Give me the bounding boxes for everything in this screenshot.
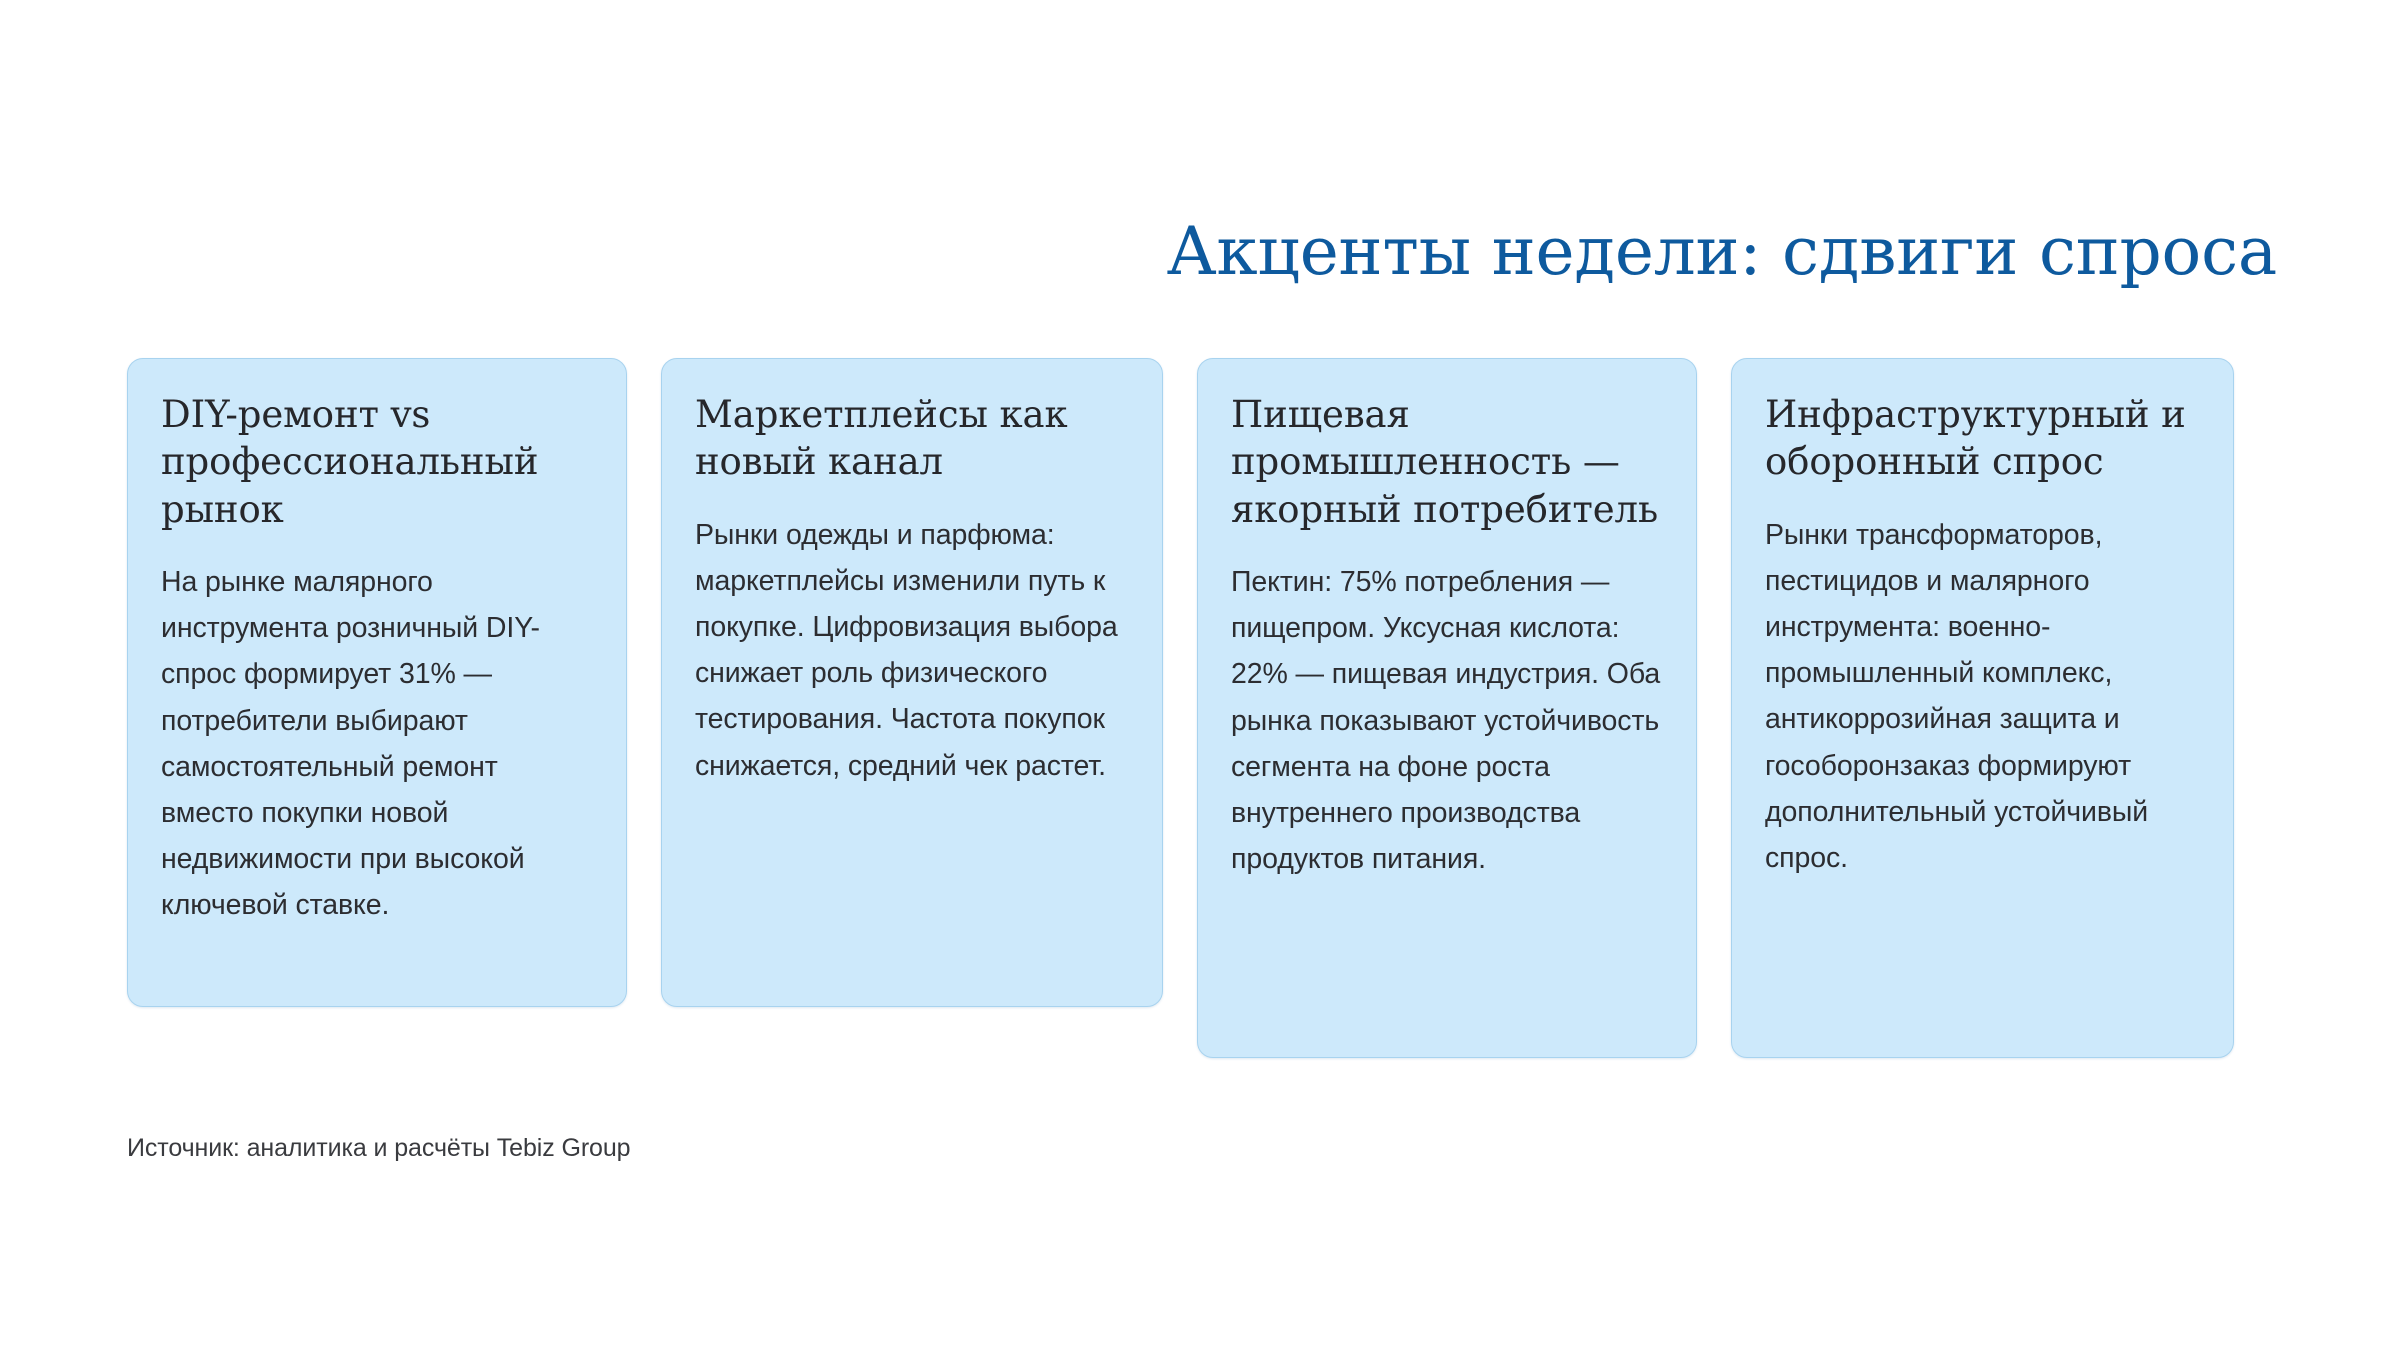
insight-card-heading: Маркетплейсы как новый канал: [695, 391, 1129, 486]
insight-card-row: DIY-ремонт vs профессиональный рынок На …: [127, 358, 2278, 1058]
source-note: Источник: аналитика и расчёты Tebiz Grou…: [127, 1132, 630, 1165]
insight-card-body: Рынки трансформаторов, пестицидов и маля…: [1765, 512, 2200, 881]
insight-card-body: На рынке малярного инструмента розничный…: [161, 559, 593, 928]
insight-card: Пищевая промышленность — якорный потреби…: [1197, 358, 1697, 1058]
insight-card: Инфраструктурный и оборонный спрос Рынки…: [1731, 358, 2234, 1058]
insight-card-heading: Инфраструктурный и оборонный спрос: [1765, 391, 2200, 486]
insight-card-heading: Пищевая промышленность — якорный потреби…: [1231, 391, 1663, 533]
insight-card: DIY-ремонт vs профессиональный рынок На …: [127, 358, 627, 1007]
page-title: Акценты недели: сдвиги спроса: [127, 214, 2277, 290]
insight-card-body: Пектин: 75% потребления — пищепром. Уксу…: [1231, 559, 1663, 882]
insight-card-heading: DIY-ремонт vs профессиональный рынок: [161, 391, 593, 533]
insight-card: Маркетплейсы как новый канал Рынки одежд…: [661, 358, 1163, 1007]
insight-card-body: Рынки одежды и парфюма: маркетплейсы изм…: [695, 512, 1129, 789]
slide-root: Акценты недели: сдвиги спроса DIY-ремонт…: [0, 0, 2400, 1350]
